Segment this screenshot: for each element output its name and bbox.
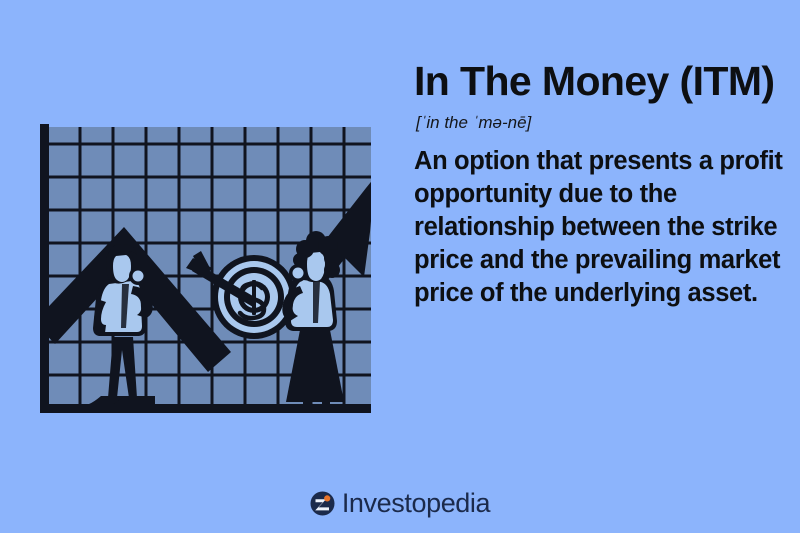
term-title: In The Money (ITM) [414,58,786,105]
pronunciation-text: [ˈin the ˈmə-nē] [416,113,786,133]
investopedia-logo: Investopedia [0,490,800,517]
investopedia-logo-icon [310,491,335,516]
investopedia-wordmark: Investopedia [342,490,490,517]
text-column: In The Money (ITM) [ˈin the ˈmə-nē] An o… [414,58,786,310]
illustration [0,0,400,480]
definition-card: In The Money (ITM) [ˈin the ˈmə-nē] An o… [0,0,800,533]
definition-text: An option that presents a profit opportu… [414,145,786,310]
stock-chart-illustration [0,0,400,480]
